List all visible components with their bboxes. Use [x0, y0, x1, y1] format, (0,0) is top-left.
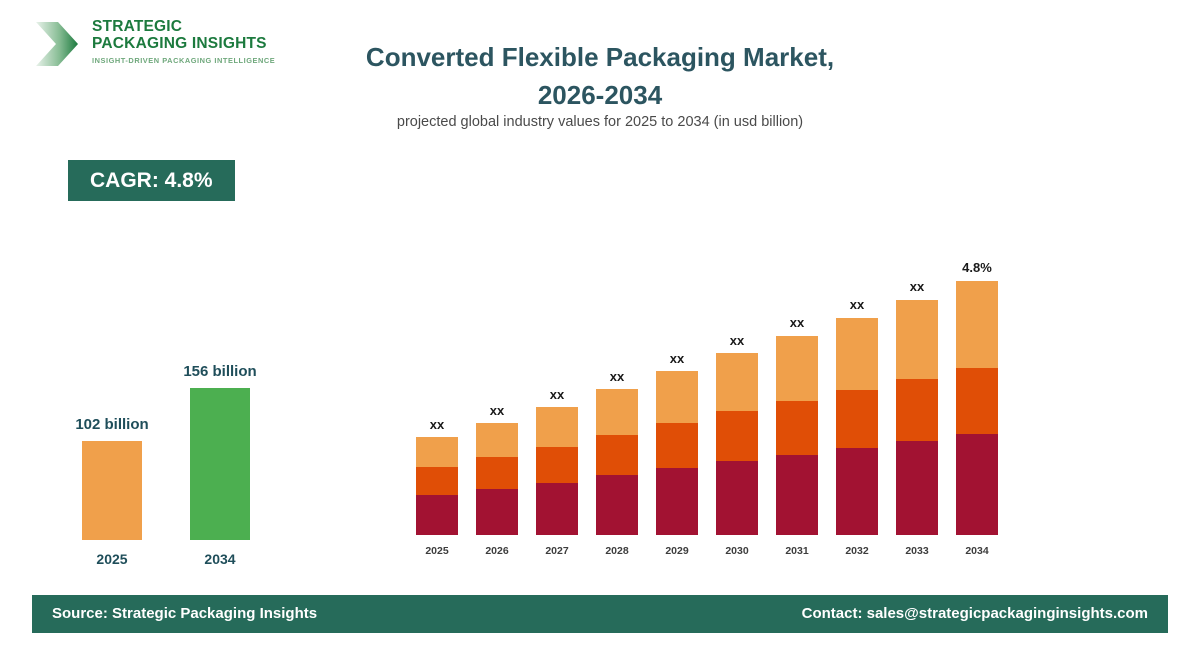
stacked-bar-category-label: 2029 [656, 545, 698, 557]
mini-bar-value-label: 102 billion [32, 416, 192, 433]
stacked-bar-segment [896, 441, 938, 535]
stacked-bar-category-label: 2034 [956, 545, 998, 557]
stacked-bar-column: xx2027 [536, 407, 578, 535]
stacked-bar-segment [536, 447, 578, 483]
stacked-bar-segment [956, 434, 998, 535]
stacked-bar-segment [656, 468, 698, 535]
stacked-bar-column: 4.8%2034 [956, 281, 998, 535]
stacked-bar-segment [536, 483, 578, 535]
stacked-bar-segment [416, 437, 458, 467]
stacked-bar-segment [776, 336, 818, 401]
stacked-bar-segment [716, 461, 758, 535]
stacked-bar-column: xx2030 [716, 353, 758, 535]
logo-line-2: PACKAGING INSIGHTS [92, 35, 275, 52]
stacked-bar-segment [956, 281, 998, 368]
stacked-bar-top-label: xx [692, 333, 782, 348]
footer-contact: Contact: sales@strategicpackaginginsight… [802, 595, 1148, 633]
stacked-bar-segment [836, 390, 878, 448]
stacked-bar-column: xx2028 [596, 389, 638, 535]
mini-bar [82, 441, 142, 540]
stacked-bar-category-label: 2027 [536, 545, 578, 557]
mini-bar-column: 156 billion2034 [190, 388, 250, 540]
stacked-bar-top-label: xx [632, 351, 722, 366]
page-title-line-1: Converted Flexible Packaging Market, [300, 38, 900, 76]
stacked-bar-segment [836, 448, 878, 535]
infographic-page: STRATEGIC PACKAGING INSIGHTS INSIGHT-DRI… [0, 0, 1200, 650]
stacked-bar-segment [596, 475, 638, 535]
cagr-badge: CAGR: 4.8% [68, 160, 235, 201]
stacked-bar-segment [716, 353, 758, 411]
stacked-bar-column: xx2032 [836, 318, 878, 535]
brand-logo: STRATEGIC PACKAGING INSIGHTS INSIGHT-DRI… [32, 14, 272, 76]
stacked-bar-top-label: 4.8% [932, 260, 1022, 275]
stacked-bar-segment [836, 318, 878, 390]
stacked-bar-segment [716, 411, 758, 461]
mini-bar-column: 102 billion2025 [82, 441, 142, 540]
stacked-bar-segment [596, 435, 638, 475]
logo-line-1: STRATEGIC [92, 18, 275, 35]
page-subtitle: projected global industry values for 202… [300, 114, 900, 130]
footer-bar: Source: Strategic Packaging Insights Con… [32, 595, 1168, 633]
stacked-bar-column: xx2029 [656, 371, 698, 535]
mini-bar-value-label: 156 billion [140, 363, 300, 380]
stacked-bar-category-label: 2025 [416, 545, 458, 557]
stacked-bar-top-label: xx [452, 403, 542, 418]
stacked-bar-top-label: xx [512, 387, 602, 402]
mini-bar [190, 388, 250, 540]
stacked-bar-category-label: 2032 [836, 545, 878, 557]
stacked-bar-segment [656, 423, 698, 468]
stacked-bar-top-label: xx [872, 279, 962, 294]
stacked-bar-segment [476, 423, 518, 457]
footer-source: Source: Strategic Packaging Insights [52, 595, 317, 633]
stacked-bar-segment [596, 389, 638, 435]
stacked-bar-top-label: xx [392, 417, 482, 432]
stacked-bar-column: xx2026 [476, 423, 518, 535]
stacked-bar-category-label: 2031 [776, 545, 818, 557]
stacked-bar-segment [776, 401, 818, 455]
stacked-bar-segment [776, 455, 818, 535]
stacked-bar-segment [656, 371, 698, 423]
stacked-bar-column: xx2031 [776, 336, 818, 535]
stacked-bar-segment [896, 300, 938, 379]
stacked-bar-segment [476, 457, 518, 489]
stacked-bar-top-label: xx [752, 315, 842, 330]
stacked-bar-segment [896, 379, 938, 441]
stacked-bar-column: xx2025 [416, 437, 458, 535]
stacked-bar-segment [416, 467, 458, 495]
page-title-line-2: 2026-2034 [300, 76, 900, 114]
stacked-bar-category-label: 2026 [476, 545, 518, 557]
stacked-bar-top-label: xx [572, 369, 662, 384]
stacked-bar-segment [476, 489, 518, 535]
yearly-stacked-forecast-chart: xx2025xx2026xx2027xx2028xx2029xx2030xx20… [408, 200, 1008, 560]
endpoint-comparison-chart: 102 billion2025156 billion2034 [50, 320, 310, 570]
stacked-bar-top-label: xx [812, 297, 902, 312]
stacked-bar-category-label: 2028 [596, 545, 638, 557]
mini-bar-category-label: 2034 [190, 551, 250, 567]
stacked-bar-category-label: 2033 [896, 545, 938, 557]
page-title: Converted Flexible Packaging Market, 202… [300, 38, 900, 114]
stacked-bar-segment [536, 407, 578, 447]
stacked-bar-segment [416, 495, 458, 535]
stacked-bar-segment [956, 368, 998, 434]
stacked-bar-category-label: 2030 [716, 545, 758, 557]
stacked-bar-column: xx2033 [896, 300, 938, 535]
chevron-right-icon [32, 16, 84, 72]
logo-tagline: INSIGHT-DRIVEN PACKAGING INTELLIGENCE [92, 56, 275, 65]
mini-bar-category-label: 2025 [82, 551, 142, 567]
